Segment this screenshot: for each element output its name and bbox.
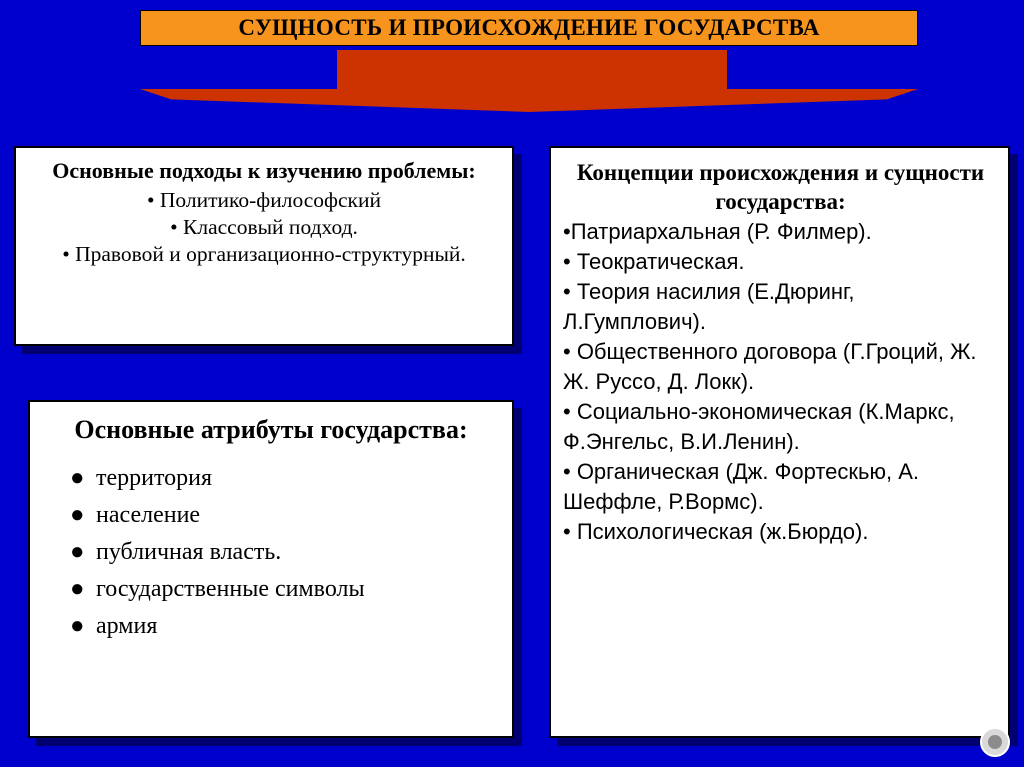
list-item: • Органическая (Дж. Фортескью, А. Шеффле… <box>563 457 998 517</box>
list-item: ● армия <box>70 608 502 645</box>
attributes-list: ● территория ● население ● публичная вла… <box>40 460 502 645</box>
slide-title-banner: СУЩНОСТЬ И ПРОИСХОЖДЕНИЕ ГОСУДАРСТВА <box>140 10 918 46</box>
list-item: • Теория насилия (Е.Дюринг, Л.Гумплович)… <box>563 277 998 337</box>
concepts-box: Концепции происхождения и сущности госуд… <box>549 146 1010 738</box>
page-title: СУЩНОСТЬ И ПРОИСХОЖДЕНИЕ ГОСУДАРСТВА <box>238 15 819 41</box>
list-item: • Теократическая. <box>563 247 998 277</box>
list-item: ● государственные символы <box>70 571 502 608</box>
decorative-ribbon <box>140 50 918 112</box>
approaches-list: • Политико-философский • Классовый подхо… <box>30 187 498 268</box>
ribbon-tail-shape <box>140 89 918 112</box>
list-item-label: государственные символы <box>96 576 365 602</box>
concepts-heading: Концепции происхождения и сущности госуд… <box>563 158 998 216</box>
bullet-icon: ● <box>70 460 85 497</box>
ribbon-center-block <box>337 50 727 90</box>
bullet-icon: ● <box>70 608 85 645</box>
concepts-list: •Патриархальная (Р. Филмер). • Теократич… <box>563 217 998 547</box>
list-item: ● население <box>70 497 502 534</box>
bullet-icon: ● <box>70 497 85 534</box>
bullet-icon: ● <box>70 571 85 608</box>
bullet-icon: ● <box>70 534 85 571</box>
list-item: ● публичная власть. <box>70 534 502 571</box>
list-item: • Классовый подход. <box>30 214 498 241</box>
attributes-box: Основные атрибуты государства: ● террито… <box>28 400 514 738</box>
approaches-heading: Основные подходы к изучению проблемы: <box>30 158 498 184</box>
list-item-label: армия <box>96 613 157 639</box>
list-item-label: территория <box>96 465 212 491</box>
list-item: ● территория <box>70 460 502 497</box>
list-item: •Патриархальная (Р. Филмер). <box>563 217 998 247</box>
list-item: • Социально-экономическая (К.Маркс, Ф.Эн… <box>563 397 998 457</box>
corner-logo-icon <box>980 727 1010 757</box>
list-item: • Правовой и организационно-структурный. <box>30 241 498 268</box>
list-item: • Политико-философский <box>30 187 498 214</box>
list-item: • Психологическая (ж.Бюрдо). <box>563 517 998 547</box>
approaches-box: Основные подходы к изучению проблемы: • … <box>14 146 514 346</box>
attributes-heading: Основные атрибуты государства: <box>40 414 502 446</box>
list-item-label: население <box>96 502 200 528</box>
list-item-label: публичная власть. <box>96 539 281 565</box>
list-item: • Общественного договора (Г.Гроций, Ж. Ж… <box>563 337 998 397</box>
